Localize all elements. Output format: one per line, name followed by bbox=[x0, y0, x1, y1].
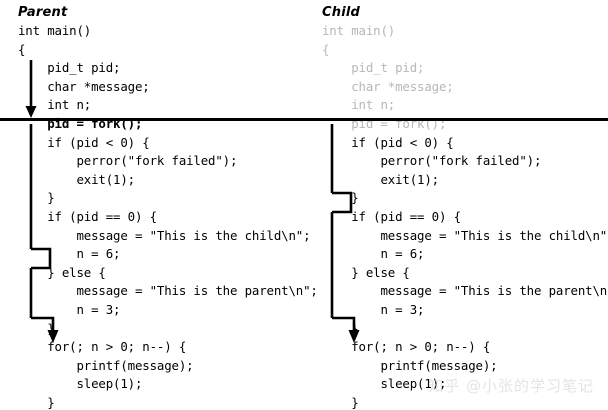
code-line: n = 6; bbox=[322, 245, 608, 264]
code-line: char *message; bbox=[18, 78, 318, 97]
code-line: printf(message); bbox=[18, 357, 318, 376]
code-line: perror("fork failed"); bbox=[18, 152, 318, 171]
code-line: if (pid == 0) { bbox=[18, 208, 318, 227]
code-line: message = "This is the child\n"; bbox=[322, 227, 608, 246]
watermark: 知乎 @小张的学习笔记 bbox=[428, 375, 594, 396]
child-code-block: int main(){ pid_t pid; char *message; in… bbox=[322, 22, 608, 410]
code-line: message = "This is the parent\n"; bbox=[322, 282, 608, 301]
code-line: sleep(1); bbox=[18, 375, 318, 394]
code-line: { bbox=[18, 41, 318, 60]
child-panel: Child int main(){ pid_t pid; char *messa… bbox=[304, 0, 608, 410]
code-line: } else { bbox=[322, 264, 608, 283]
parent-panel-title: Parent bbox=[18, 5, 67, 20]
diagram-canvas: Parent int main(){ pid_t pid; char *mess… bbox=[0, 0, 608, 410]
code-line: n = 3; bbox=[18, 301, 318, 320]
code-line: printf(message); bbox=[322, 357, 608, 376]
code-line: char *message; bbox=[322, 78, 608, 97]
code-line: exit(1); bbox=[18, 171, 318, 190]
child-panel-title: Child bbox=[322, 5, 360, 20]
code-line: n = 3; bbox=[322, 301, 608, 320]
child-fork-divider bbox=[297, 118, 545, 121]
code-line: exit(1); bbox=[322, 171, 608, 190]
parent-code-block: int main(){ pid_t pid; char *message; in… bbox=[18, 22, 318, 410]
code-line: for(; n > 0; n--) { bbox=[18, 338, 318, 357]
code-line: n = 6; bbox=[18, 245, 318, 264]
parent-panel: Parent int main(){ pid_t pid; char *mess… bbox=[0, 0, 304, 410]
code-line: message = "This is the child\n"; bbox=[18, 227, 318, 246]
code-line: int main() bbox=[18, 22, 318, 41]
code-line: if (pid == 0) { bbox=[322, 208, 608, 227]
code-line: if (pid < 0) { bbox=[18, 134, 318, 153]
code-line: pid_t pid; bbox=[18, 59, 318, 78]
code-line: { bbox=[322, 41, 608, 60]
code-line: if (pid < 0) { bbox=[322, 134, 608, 153]
code-line: } bbox=[322, 189, 608, 208]
code-line: } else { bbox=[18, 264, 318, 283]
code-line: perror("fork failed"); bbox=[322, 152, 608, 171]
code-line: } bbox=[18, 189, 318, 208]
code-line: message = "This is the parent\n"; bbox=[18, 282, 318, 301]
code-line: } bbox=[322, 394, 608, 410]
code-line: } bbox=[18, 394, 318, 410]
code-line: int n; bbox=[18, 96, 318, 115]
code-line: for(; n > 0; n--) { bbox=[322, 338, 608, 357]
code-line: } bbox=[322, 320, 608, 339]
code-line: int main() bbox=[322, 22, 608, 41]
code-line: int n; bbox=[322, 96, 608, 115]
code-line: } bbox=[18, 320, 318, 339]
code-line: pid_t pid; bbox=[322, 59, 608, 78]
